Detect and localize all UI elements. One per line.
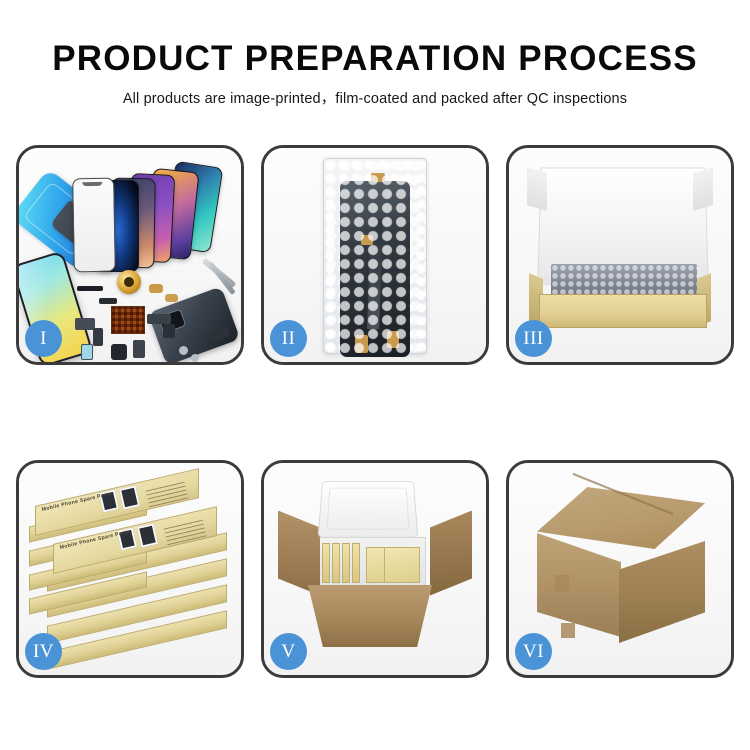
tape-piece-top — [371, 173, 385, 182]
step-badge-3: III — [515, 320, 552, 357]
component-module-a — [75, 318, 95, 330]
component-module-b — [93, 328, 103, 346]
step-badge-4: IV — [25, 633, 62, 670]
step-badge-2: II — [270, 320, 307, 357]
component-module-d — [133, 340, 145, 358]
header: PRODUCT PREPARATION PROCESS All products… — [0, 0, 750, 128]
component-gold-connector-a — [149, 284, 163, 293]
packed-box-group-b — [384, 547, 420, 583]
component-antenna-strip — [99, 298, 117, 304]
process-step-3: III — [506, 145, 734, 365]
process-step-4: Mobile Phone Spare Parts Mobile Phone Sp… — [16, 460, 244, 678]
process-step-2: II — [261, 145, 489, 365]
carton-body — [308, 585, 432, 647]
packed-box-2 — [332, 543, 340, 583]
copper-grid-chip — [111, 306, 145, 334]
phone-screen-fan — [91, 162, 241, 270]
screw-a — [179, 346, 188, 355]
packed-box-1 — [322, 543, 330, 583]
bubble-wrap-bag — [323, 158, 427, 354]
carton-left-face — [537, 533, 621, 637]
carton-flap-left — [278, 511, 320, 596]
carton-flap-right — [430, 511, 472, 596]
process-step-5: V — [261, 460, 489, 678]
component-flex-cable — [147, 314, 171, 324]
tape-piece-middle — [361, 235, 373, 245]
lid-flap-left — [527, 167, 547, 211]
gold-speaker-coil — [117, 270, 141, 294]
grey-bubble-wrap-fill — [551, 264, 697, 296]
tempered-glass-panel — [72, 178, 116, 273]
component-mini-screen — [81, 344, 93, 360]
process-step-1: I — [16, 145, 244, 365]
retail-box-stack: Mobile Phone Spare Parts Mobile Phone Sp… — [29, 483, 227, 665]
tape-piece-bottom-left — [355, 335, 368, 353]
component-gold-connector-b — [165, 294, 178, 302]
packed-box-3 — [342, 543, 350, 583]
packed-box-4 — [352, 543, 360, 583]
page-subtitle: All products are image-printed，film-coat… — [0, 87, 750, 108]
carton-tape-upper — [555, 575, 569, 592]
component-module-c — [163, 324, 175, 338]
foam-lid-open — [318, 481, 419, 538]
carton-tape-lower — [561, 623, 575, 638]
process-step-6: VI — [506, 460, 734, 678]
component-strip — [77, 286, 103, 291]
product-preparation-infographic: PRODUCT PREPARATION PROCESS All products… — [0, 0, 750, 750]
kraft-box-front-wall — [539, 294, 707, 328]
screw-b — [191, 354, 199, 362]
page-title: PRODUCT PREPARATION PROCESS — [0, 40, 750, 78]
carton-top-face — [537, 487, 705, 549]
step-badge-5: V — [270, 633, 307, 670]
carton-right-face — [619, 541, 705, 643]
tape-piece-bottom-right — [387, 331, 399, 348]
step-badge-6: VI — [515, 633, 552, 670]
component-camera — [111, 344, 127, 360]
lid-flap-right — [693, 167, 713, 211]
process-step-grid: I II — [16, 145, 734, 679]
step-badge-1: I — [25, 320, 62, 357]
